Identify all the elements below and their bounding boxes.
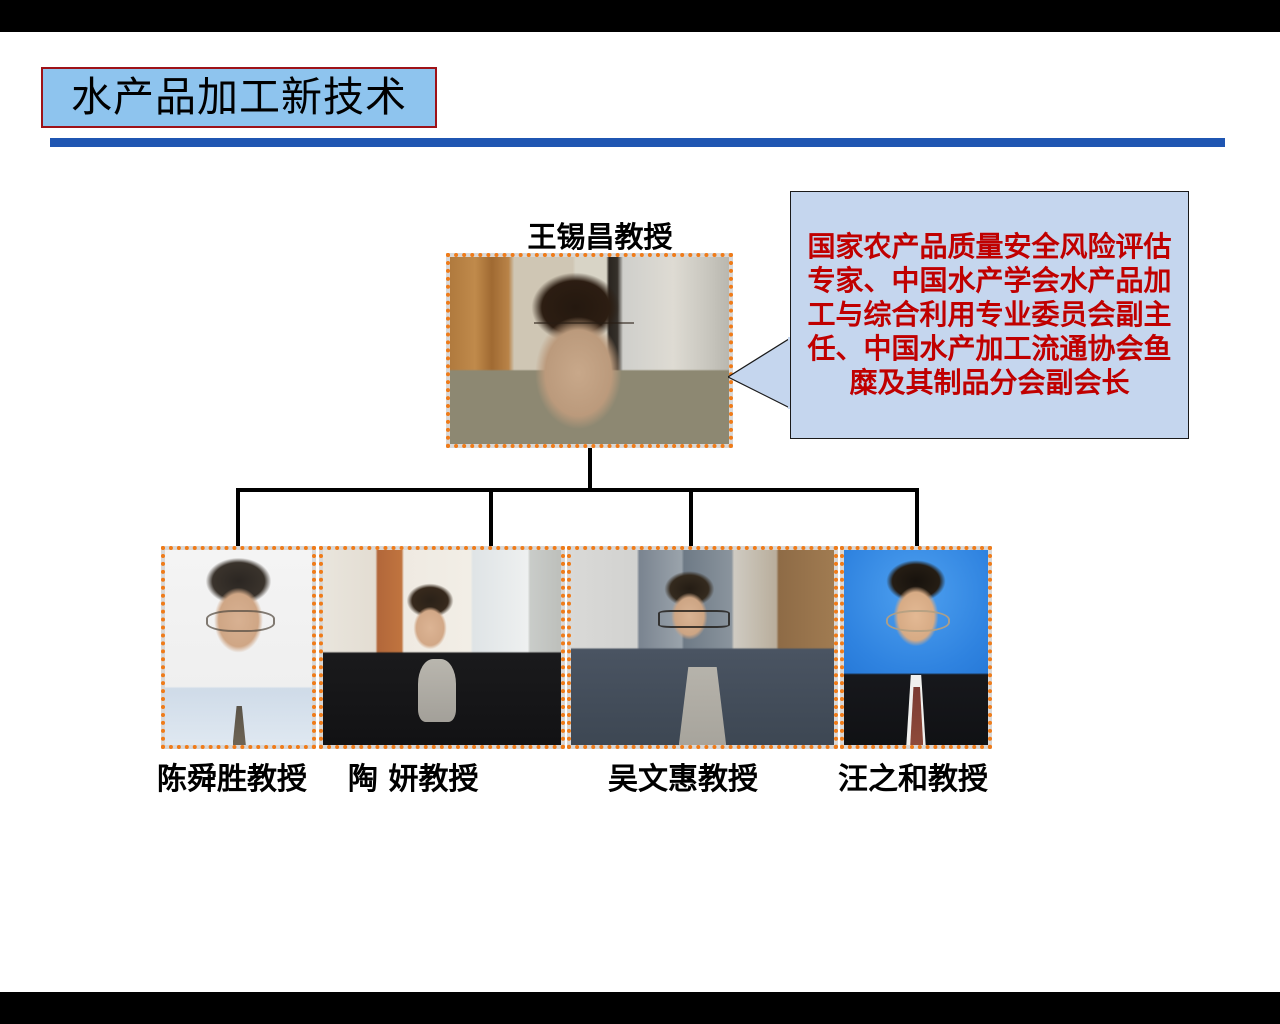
connector-horizontal-bus xyxy=(236,488,919,492)
org-child-label-3: 吴文惠教授 xyxy=(608,759,758,801)
connector-stem xyxy=(588,448,592,491)
slide-canvas: 水产品加工新技术 王锡昌教授 xyxy=(0,32,1280,992)
callout-box: 国家农产品质量安全风险评估专家、中国水产学会水产品加工与综合利用专业委员会副主任… xyxy=(790,191,1189,439)
org-child-label-1: 陈舜胜教授 xyxy=(157,759,307,801)
glasses-icon xyxy=(534,322,634,337)
connector-drop-4 xyxy=(915,488,919,546)
org-root-photo xyxy=(446,253,733,448)
photo-child-1-image xyxy=(165,550,312,745)
photo-child-2-image xyxy=(323,550,561,745)
glasses-icon xyxy=(886,610,950,632)
org-child-label-2: 陶 妍教授 xyxy=(348,759,478,801)
org-child-label-4: 汪之和教授 xyxy=(838,759,988,801)
connector-drop-3 xyxy=(689,488,693,546)
org-child-photo-2 xyxy=(319,546,565,749)
callout-pointer-tail xyxy=(728,337,792,409)
glasses-icon xyxy=(658,610,730,628)
connector-drop-1 xyxy=(236,488,240,546)
title-underline-rule xyxy=(50,138,1225,147)
page-title: 水产品加工新技术 xyxy=(71,77,407,118)
photo-root-image xyxy=(450,257,729,444)
org-child-photo-4 xyxy=(840,546,992,749)
connector-drop-2 xyxy=(489,488,493,546)
photo-child-3-image xyxy=(571,550,834,745)
necktie-shape xyxy=(233,706,246,745)
slide-frame: 水产品加工新技术 王锡昌教授 xyxy=(0,0,1280,1024)
scarf-shape xyxy=(418,659,456,721)
vest-shape xyxy=(679,667,726,745)
org-child-photo-1 xyxy=(161,546,316,749)
letterbox-bottom xyxy=(0,992,1280,1024)
callout-text: 国家农产品质量安全风险评估专家、中国水产学会水产品加工与综合利用专业委员会副主任… xyxy=(791,230,1188,400)
glasses-icon xyxy=(206,610,275,632)
slide-title-box: 水产品加工新技术 xyxy=(41,67,437,128)
org-child-photo-3 xyxy=(567,546,838,749)
org-root-label: 王锡昌教授 xyxy=(440,214,760,256)
org-child-label-row: 陈舜胜教授 陶 妍教授 吴文惠教授 汪之和教授 xyxy=(150,759,1030,801)
photo-child-4-image xyxy=(844,550,988,745)
letterbox-top xyxy=(0,0,1280,32)
